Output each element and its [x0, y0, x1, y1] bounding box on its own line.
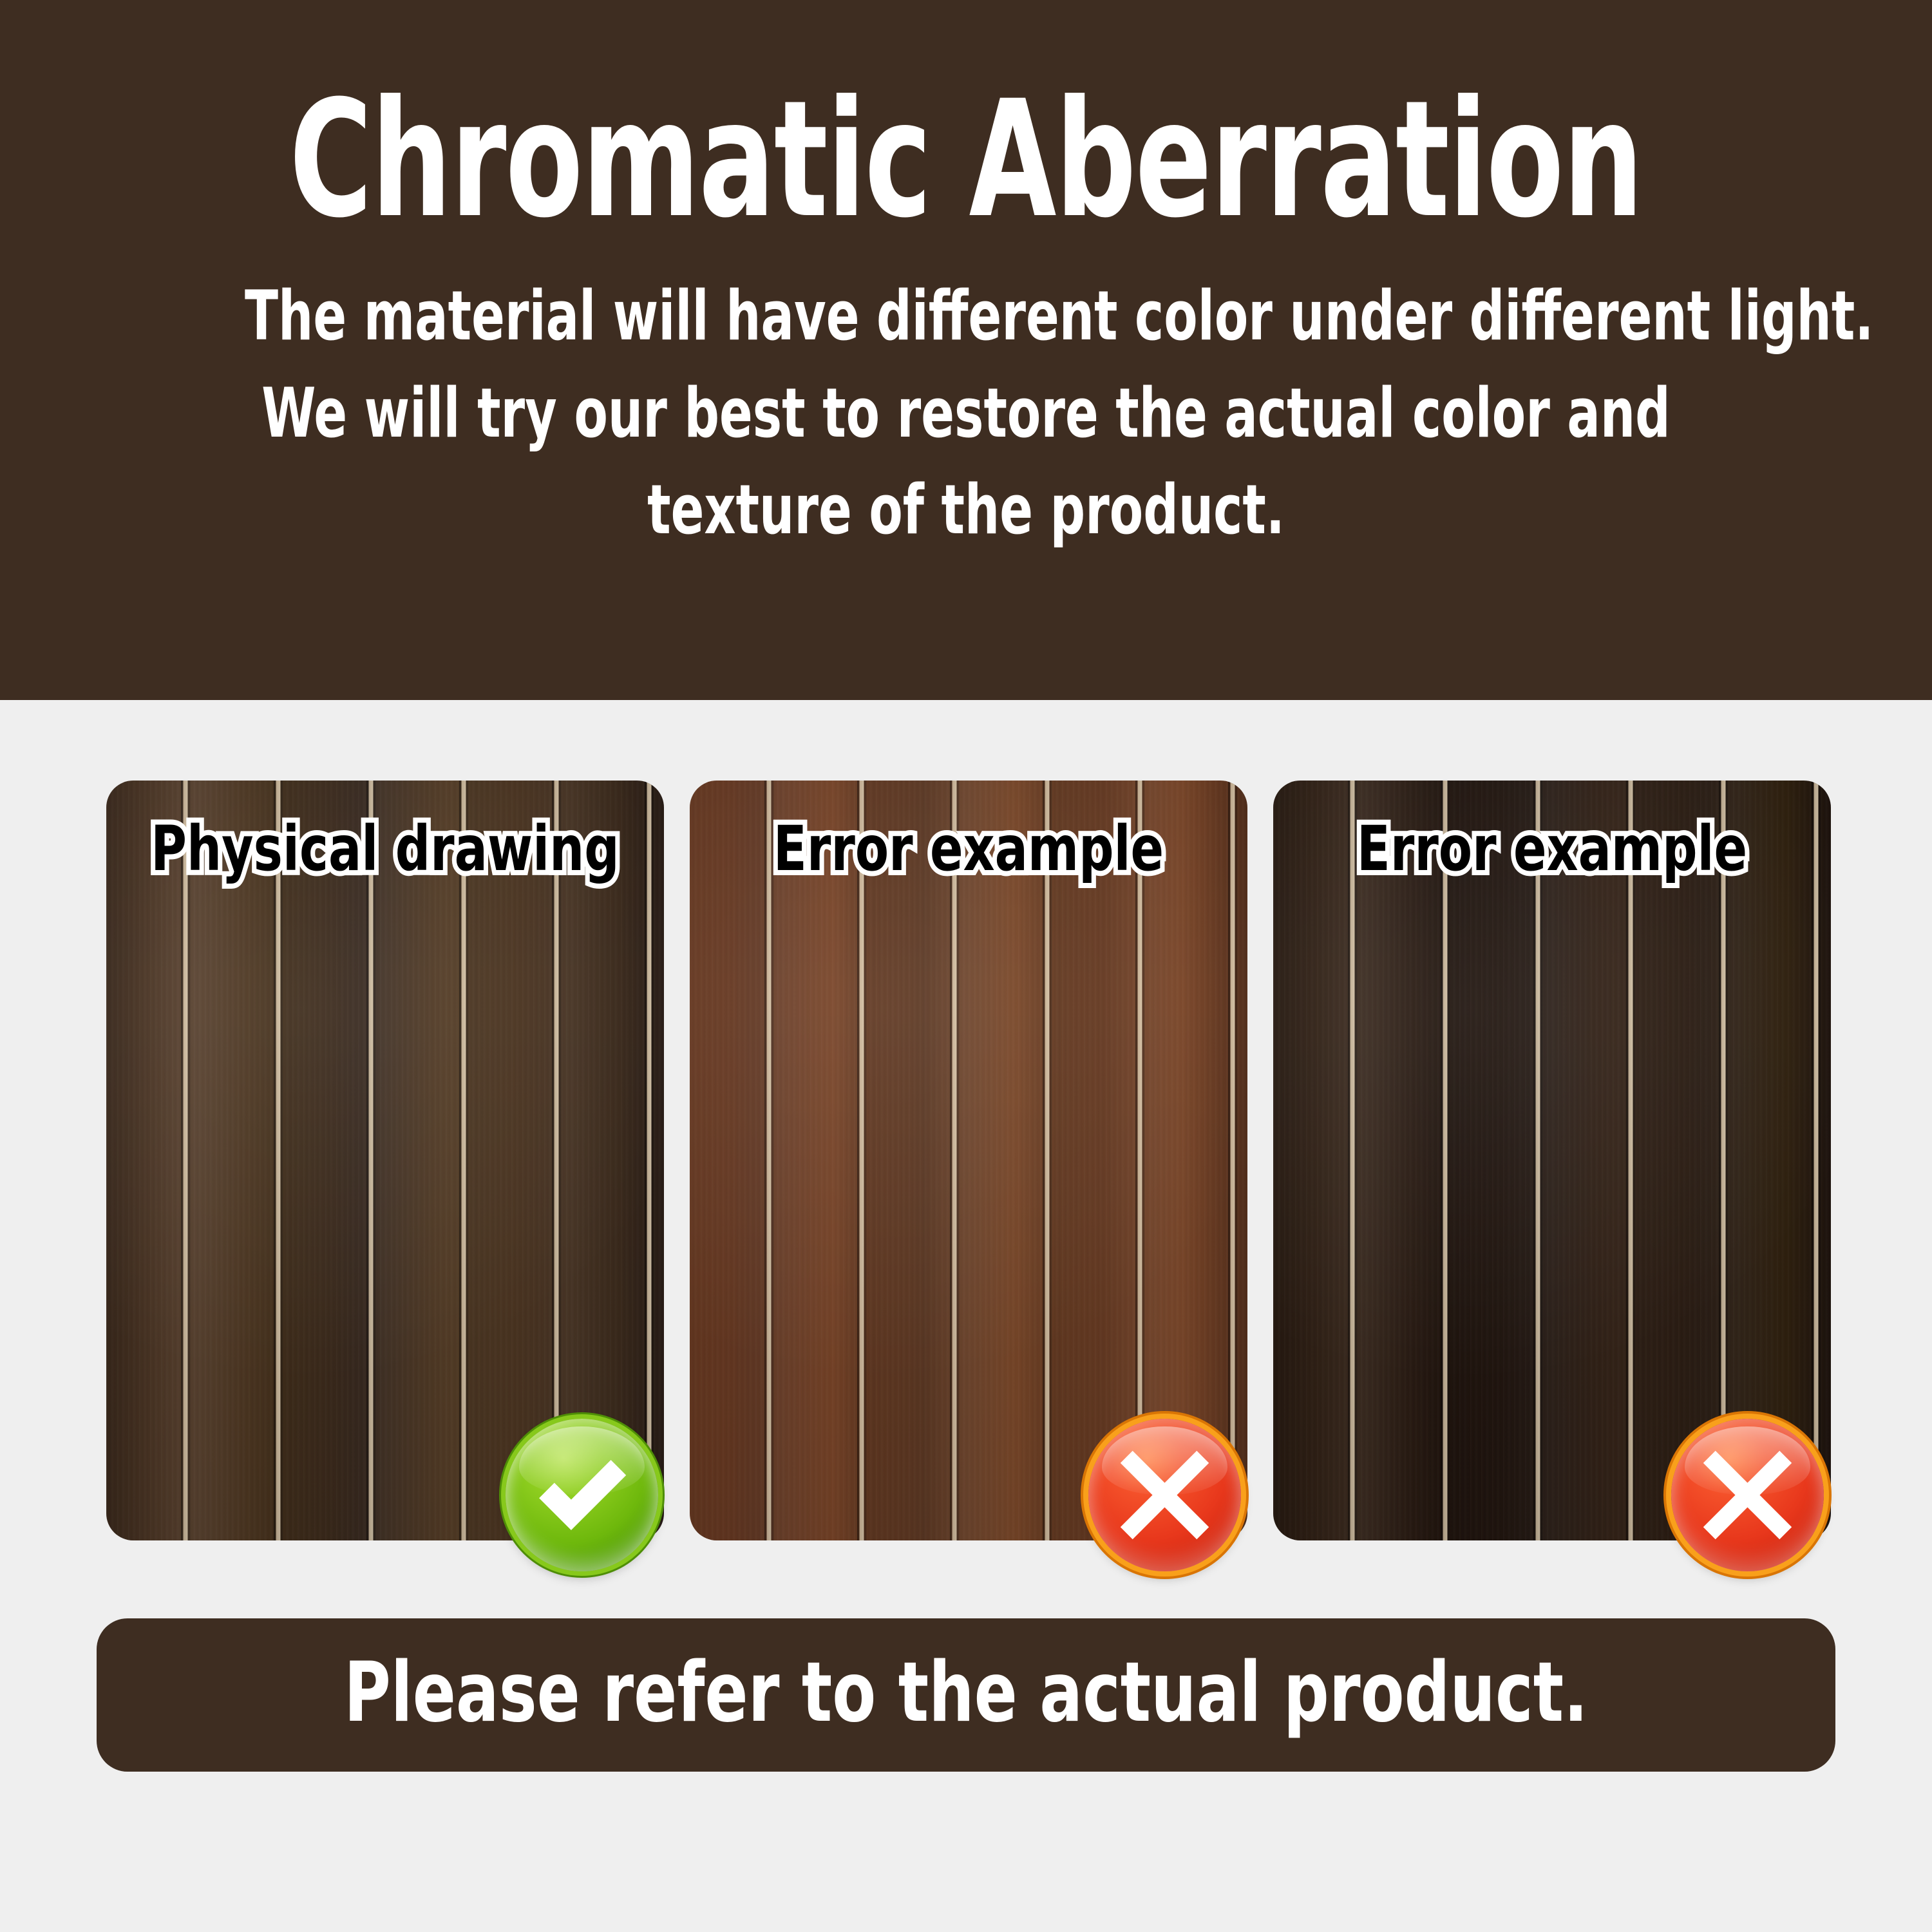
page-subtitle: The material will have different color u… [245, 237, 1687, 559]
card-label-error-example-1: Error example [723, 818, 1214, 880]
page-title: Chromatic Aberration [290, 82, 1643, 237]
comparison-card-row: Physical drawing Error example Error exa… [106, 781, 1806, 1540]
card-label-physical-drawing: Physical drawing [140, 818, 630, 880]
subtitle-line-3: texture of the product. [245, 462, 1687, 559]
check-icon [506, 1419, 658, 1571]
footer-banner-text: Please refer to the actual product. [344, 1652, 1588, 1734]
card-label-error-example-2: Error example [1307, 818, 1797, 880]
cross-icon [1671, 1419, 1824, 1571]
header-banner: Chromatic Aberration The material will h… [0, 0, 1932, 700]
footer-banner: Please refer to the actual product. [97, 1618, 1835, 1772]
subtitle-line-1: The material will have different color u… [245, 268, 1687, 365]
cross-icon [1088, 1419, 1241, 1571]
subtitle-line-2: We will try our best to restore the actu… [245, 365, 1687, 462]
